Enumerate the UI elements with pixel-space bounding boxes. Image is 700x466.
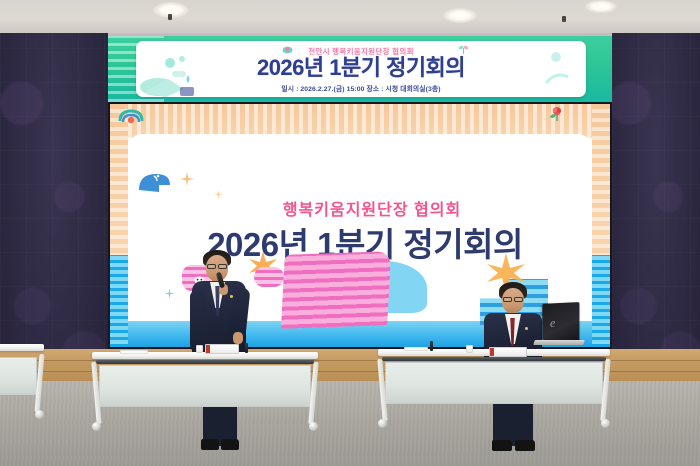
documents — [120, 350, 148, 354]
ceiling-sprinkler-icon — [168, 14, 172, 20]
ceiling-sprinkler-icon — [562, 16, 566, 22]
hand — [233, 332, 243, 344]
table-caster — [378, 419, 387, 428]
banner-card: 천안시 행복키움지원단장 협의회 2026년 1분기 정기회의 일시 : 202… — [136, 41, 586, 97]
table-modesty-panel — [99, 365, 311, 407]
shoe — [492, 440, 512, 451]
lapel-badge-icon — [525, 327, 528, 330]
projection-screen-frame: 행복키움지원단장 협의회 2026년 1분기 정기회의 — [108, 102, 612, 349]
lapel-badge-icon — [230, 295, 233, 298]
table-surface — [0, 344, 44, 351]
city-emblem-logo — [118, 109, 144, 126]
right-nameplate — [489, 347, 527, 357]
table-rail — [96, 360, 314, 364]
screen-border-top — [110, 104, 610, 138]
carnation-icon — [548, 106, 566, 122]
desk-microphone-icon — [430, 341, 433, 351]
table-modesty-panel — [385, 362, 603, 404]
documents — [404, 347, 428, 351]
ceiling-downlight-icon — [585, 0, 617, 13]
nameplate-accent — [206, 345, 210, 353]
shoe — [201, 439, 219, 450]
desk-microphone-icon — [245, 343, 248, 353]
ceiling — [0, 0, 700, 33]
glasses-icon — [514, 297, 523, 302]
glasses-icon — [218, 264, 227, 269]
screen-border-cyan-left — [110, 255, 128, 347]
banner-meta: 일시 : 2026.2.27.(금) 15:00 장소 : 시청 대회의실(3층… — [136, 83, 586, 93]
glasses-icon — [207, 264, 216, 269]
left-arm — [190, 290, 206, 352]
shoe — [221, 439, 239, 450]
ceiling-downlight-icon — [443, 8, 477, 23]
nameplate-accent — [490, 348, 494, 356]
table-rail — [382, 357, 606, 361]
table-caster — [601, 419, 610, 428]
screen-border-cyan-right — [592, 255, 610, 347]
laptop-base — [533, 340, 585, 345]
table-modesty-panel — [0, 357, 37, 395]
overhead-banner: 천안시 행복키움지원단장 협의회 2026년 1분기 정기회의 일시 : 202… — [108, 36, 612, 102]
left-nameplate — [205, 344, 239, 354]
paper-cup — [196, 345, 203, 353]
projection-screen: 행복키움지원단장 협의회 2026년 1분기 정기회의 — [110, 104, 610, 347]
screen-subtitle: 행복키움지원단장 협의회 — [128, 196, 592, 220]
sparkle-icon — [164, 288, 175, 299]
table-caster — [35, 410, 44, 419]
laptop-brand-mark: e — [550, 315, 555, 331]
shoe — [515, 440, 535, 451]
striped-pink-block-decoration — [281, 251, 391, 329]
sparkle-icon — [180, 172, 194, 186]
banner-title: 2026년 1분기 정기회의 — [136, 55, 586, 81]
conference-room-photo: 천안시 행복키움지원단장 협의회 2026년 1분기 정기회의 일시 : 202… — [0, 0, 700, 466]
laptop-lid: e — [542, 302, 579, 342]
glasses-icon — [503, 297, 512, 302]
table-caster — [92, 422, 101, 431]
table-caster — [309, 422, 318, 431]
paper-cup — [466, 345, 473, 353]
striped-pill-decoration — [254, 267, 284, 287]
